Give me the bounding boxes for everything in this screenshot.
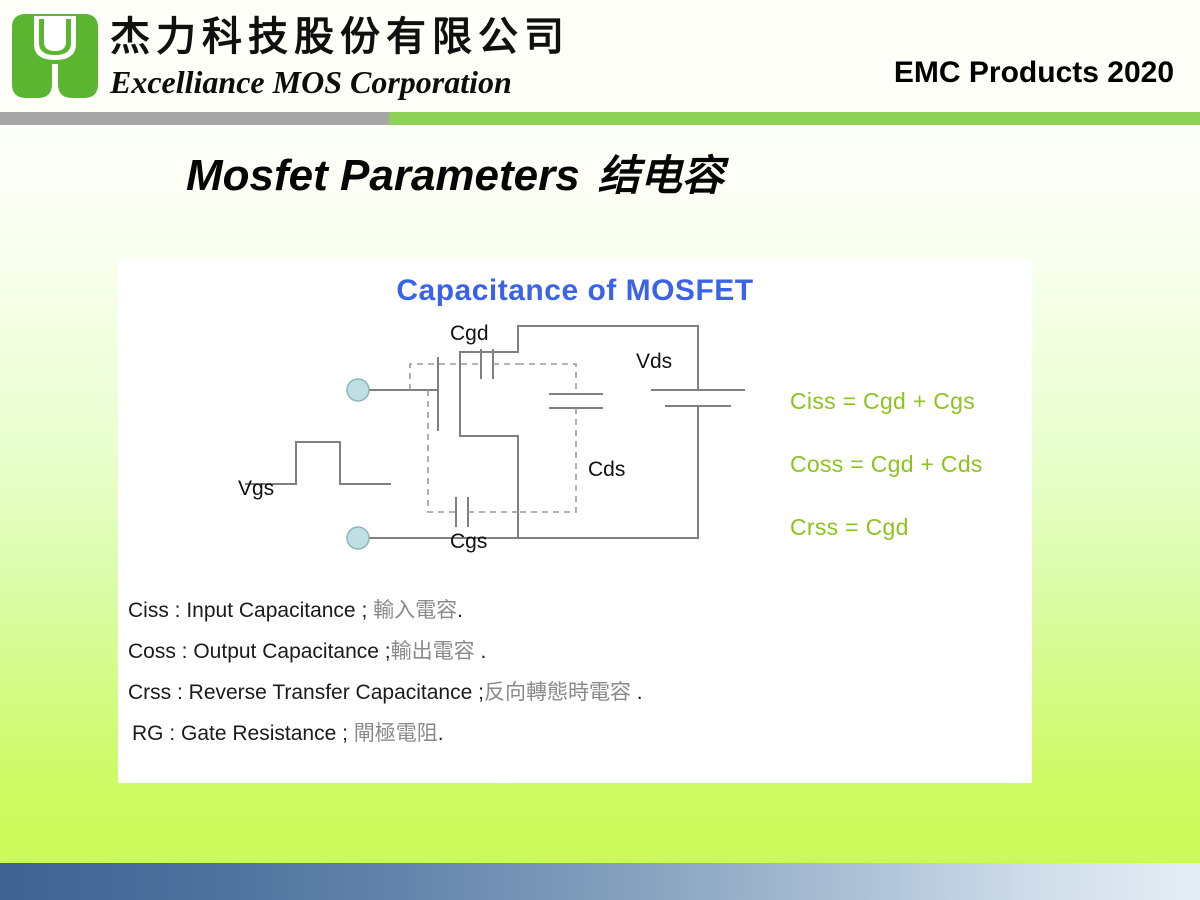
company-name-block: 杰力科技股份有限公司 Excelliance MOS Corporation (110, 14, 570, 102)
label-vds: Vds (636, 350, 672, 373)
gate-terminal-dot (347, 379, 369, 401)
formula-crss: Crss = Cgd (790, 496, 1030, 559)
label-cgd: Cgd (450, 322, 489, 345)
label-vgs: Vgs (238, 477, 274, 500)
company-name-english: Excelliance MOS Corporation (110, 62, 570, 102)
slide-title-english: Mosfet Parameters (186, 151, 580, 200)
parasitic-capacitor-wiring (410, 364, 576, 512)
definition-coss-english: Coss : Output Capacitance ; (128, 640, 391, 663)
definition-coss: Coss : Output Capacitance ;輸出電容 . (128, 631, 1028, 672)
definition-ciss-chinese: 輸入電容 (373, 598, 457, 622)
header-rule-green (389, 112, 1200, 125)
header-rule-gray (0, 112, 389, 125)
capacitance-definition-list: Ciss : Input Capacitance ; 輸入電容. Coss : … (128, 590, 1028, 754)
content-panel: Capacitance of MOSFET (118, 258, 1032, 783)
company-name-chinese: 杰力科技股份有限公司 (110, 14, 570, 60)
mosfet-capacitance-schematic: Cgd Cgs Cds Vgs Vds (228, 320, 868, 580)
definition-ciss: Ciss : Input Capacitance ; 輸入電容. (128, 590, 1028, 631)
formula-coss: Coss = Cgd + Cds (790, 433, 1030, 496)
deck-title: EMC Products 2020 (894, 56, 1174, 90)
definition-rg: RG : Gate Resistance ; 閘極電阻. (128, 713, 1028, 754)
source-terminal-dot (347, 527, 369, 549)
definition-coss-tail: . (475, 640, 487, 663)
capacitance-formula-list: Ciss = Cgd + Cgs Coss = Cgd + Cds Crss =… (790, 370, 1030, 559)
panel-title: Capacitance of MOSFET (118, 274, 1032, 308)
slide-footer-bar (0, 863, 1200, 900)
definition-ciss-tail: . (457, 599, 463, 622)
definition-rg-chinese: 閘極電阻 (354, 721, 438, 745)
slide-header: 杰力科技股份有限公司 Excelliance MOS Corporation E… (0, 0, 1200, 112)
definition-crss: Crss : Reverse Transfer Capacitance ;反向轉… (128, 672, 1028, 713)
definition-crss-tail: . (631, 681, 643, 704)
excelliance-m-logo-icon (8, 10, 102, 102)
definition-crss-chinese: 反向轉態時電容 (484, 680, 631, 704)
definition-ciss-english: Ciss : Input Capacitance ; (128, 599, 373, 622)
formula-ciss: Ciss = Cgd + Cgs (790, 370, 1030, 433)
definition-rg-english: RG : Gate Resistance ; (132, 722, 354, 745)
label-cds: Cds (588, 458, 625, 481)
label-cgs: Cgs (450, 530, 487, 553)
slide-title-chinese: 结电容 (598, 151, 724, 200)
definition-crss-english: Crss : Reverse Transfer Capacitance ; (128, 681, 484, 704)
definition-coss-chinese: 輸出電容 (391, 639, 475, 663)
presentation-slide: 杰力科技股份有限公司 Excelliance MOS Corporation E… (0, 0, 1200, 900)
slide-title: Mosfet Parameters结电容 (186, 142, 724, 203)
definition-rg-tail: . (438, 722, 444, 745)
